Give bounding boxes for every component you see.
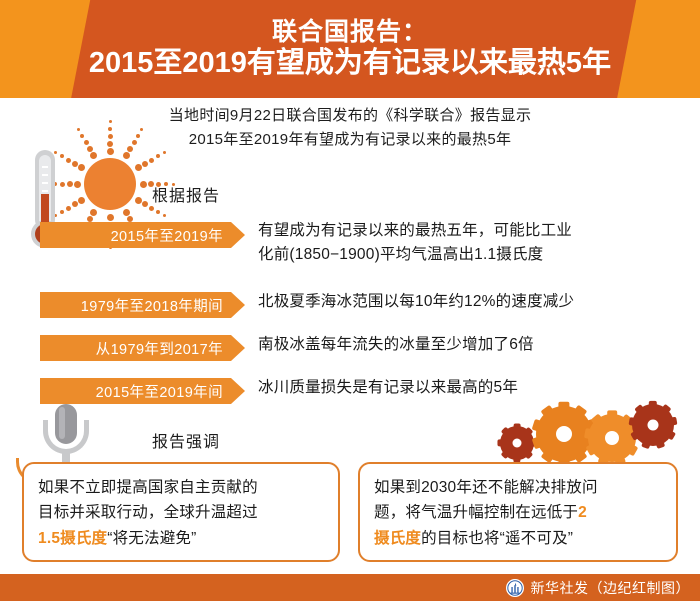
header-title-line1: 联合国报告： [272,18,428,46]
emphasis-box-1-line2: 题，将气温升幅控制在远低于2 [374,500,662,525]
sun-ray-dot [90,209,97,216]
sun-ray-dot [90,152,97,159]
sun-ray-dot [108,127,112,131]
sun-ray-dot [74,181,81,188]
emphasis-box-1-line1: 如果到2030年还不能解决排放问 [374,475,662,500]
sun-ray-dot [107,141,113,147]
sun-ray-dot [127,146,133,152]
sun-ray-dot [109,120,112,123]
sun-ray-dot [107,214,114,221]
xinhua-logo-icon [506,579,524,597]
sun-ray-dot [72,201,78,207]
sun-ray-dot [123,209,130,216]
intro-line1: 当地时间9月22日联合国发布的《科学联合》报告显示 [0,104,700,128]
sun-ray-dot [66,158,71,163]
thermometer-tick [42,174,48,176]
header-banner: 联合国报告： 2015至2019有望成为有记录以来最热5年 [0,0,700,98]
sun-ray-dot [156,154,160,158]
sun-ray-dot [107,148,114,155]
sun-ray-dot [80,134,84,138]
gears-icon [500,400,680,462]
sun-ray-dot [140,181,147,188]
sun-ray-dot [72,161,78,167]
sun-ray-dot [140,128,143,131]
sun-ray-dot [135,197,142,204]
section-label-emphasis: 报告强调 [152,428,220,452]
microphone-head-highlight [59,407,65,439]
sun-ray-dot [67,181,73,187]
sun-ray-dot [149,206,154,211]
sun-ray-dot [78,197,85,204]
sun-ray-dot [108,134,113,139]
sun-core [84,158,136,210]
fact-text-1: 北极夏季海冰范围以每10年约12%的速度减少 [258,290,688,314]
sun-ray-dot [136,134,140,138]
thermometer-tick [42,182,48,184]
sun-ray-dot [66,206,71,211]
emphasis-box-1: 如果到2030年还不能解决排放问 题，将气温升幅控制在远低于2 摄氏度的目标也将… [358,462,678,562]
sun-ray-dot [149,158,154,163]
footer-bar: 新华社发（边纪红制图） [0,574,700,601]
sun-ray-dot [127,216,133,222]
sun-ray-dot [77,128,80,131]
gear-hole [605,431,619,445]
sun-ray-dot [132,140,137,145]
gear-hole [513,439,522,448]
sun-ray-dot [156,210,160,214]
gear-hole [648,420,659,431]
sun-ray-dot [163,214,166,217]
emphasis-box-1-line3: 摄氏度的目标也将“遥不可及” [374,526,662,551]
sun-ray-dot [84,140,89,145]
thermometer-tick [42,166,48,168]
emphasis-box-1-highlight-unit: 摄氏度 [374,530,421,547]
emphasis-box-0-line2: 目标并采取行动，全球升温超过 [38,500,324,525]
fact-text-2: 南极冰盖每年流失的冰量至少增加了6倍 [258,333,688,357]
fact-text-3: 冰川质量损失是有记录以来最高的5年 [258,376,688,400]
fact-text-0-line2: 化前(1850−1900)平均气温高出1.1摄氏度 [258,243,688,267]
sun-ray-dot [163,151,166,154]
fact-text-0: 有望成为有记录以来的最热五年，可能比工业 化前(1850−1900)平均气温高出… [258,219,688,267]
sun-ray-dot [87,216,93,222]
infographic-page: 联合国报告： 2015至2019有望成为有记录以来最热5年 当地时间9月22日联… [0,0,700,601]
fact-tag-2: 从1979年到2017年 [40,335,245,361]
fact-tag-0: 2015年至2019年 [40,222,245,248]
sun-ray-dot [135,164,142,171]
sun-ray-dot [78,164,85,171]
sun-ray-dot [123,152,130,159]
emphasis-box-0-line1: 如果不立即提高国家自主贡献的 [38,475,324,500]
gear-0 [500,426,534,460]
header-title-group: 联合国报告： 2015至2019有望成为有记录以来最热5年 [0,0,700,98]
emphasis-box-0-highlight: 1.5摄氏度 [38,530,107,547]
fact-tag-3: 2015年至2019年间 [40,378,245,404]
section-label-general: 根据报告 [152,182,220,206]
header-title-line2: 2015至2019有望成为有记录以来最热5年 [89,47,611,79]
emphasis-box-1-highlight-num: 2 [578,504,587,521]
thermometer-tick [42,190,48,192]
sun-ray-dot [142,161,148,167]
fact-tag-1: 1979年至2018年期间 [40,292,245,318]
fact-text-0-line1: 有望成为有记录以来的最热五年，可能比工业 [258,219,688,243]
gear-hole [556,426,572,442]
sun-ray-dot [142,201,148,207]
footer-credit: 新华社发（边纪红制图） [531,578,691,598]
emphasis-box-0: 如果不立即提高国家自主贡献的 目标并采取行动，全球升温超过 1.5摄氏度“将无法… [22,462,340,562]
sun-ray-dot [87,146,93,152]
emphasis-box-0-line3: 1.5摄氏度“将无法避免” [38,526,324,551]
gear-3 [632,404,674,446]
